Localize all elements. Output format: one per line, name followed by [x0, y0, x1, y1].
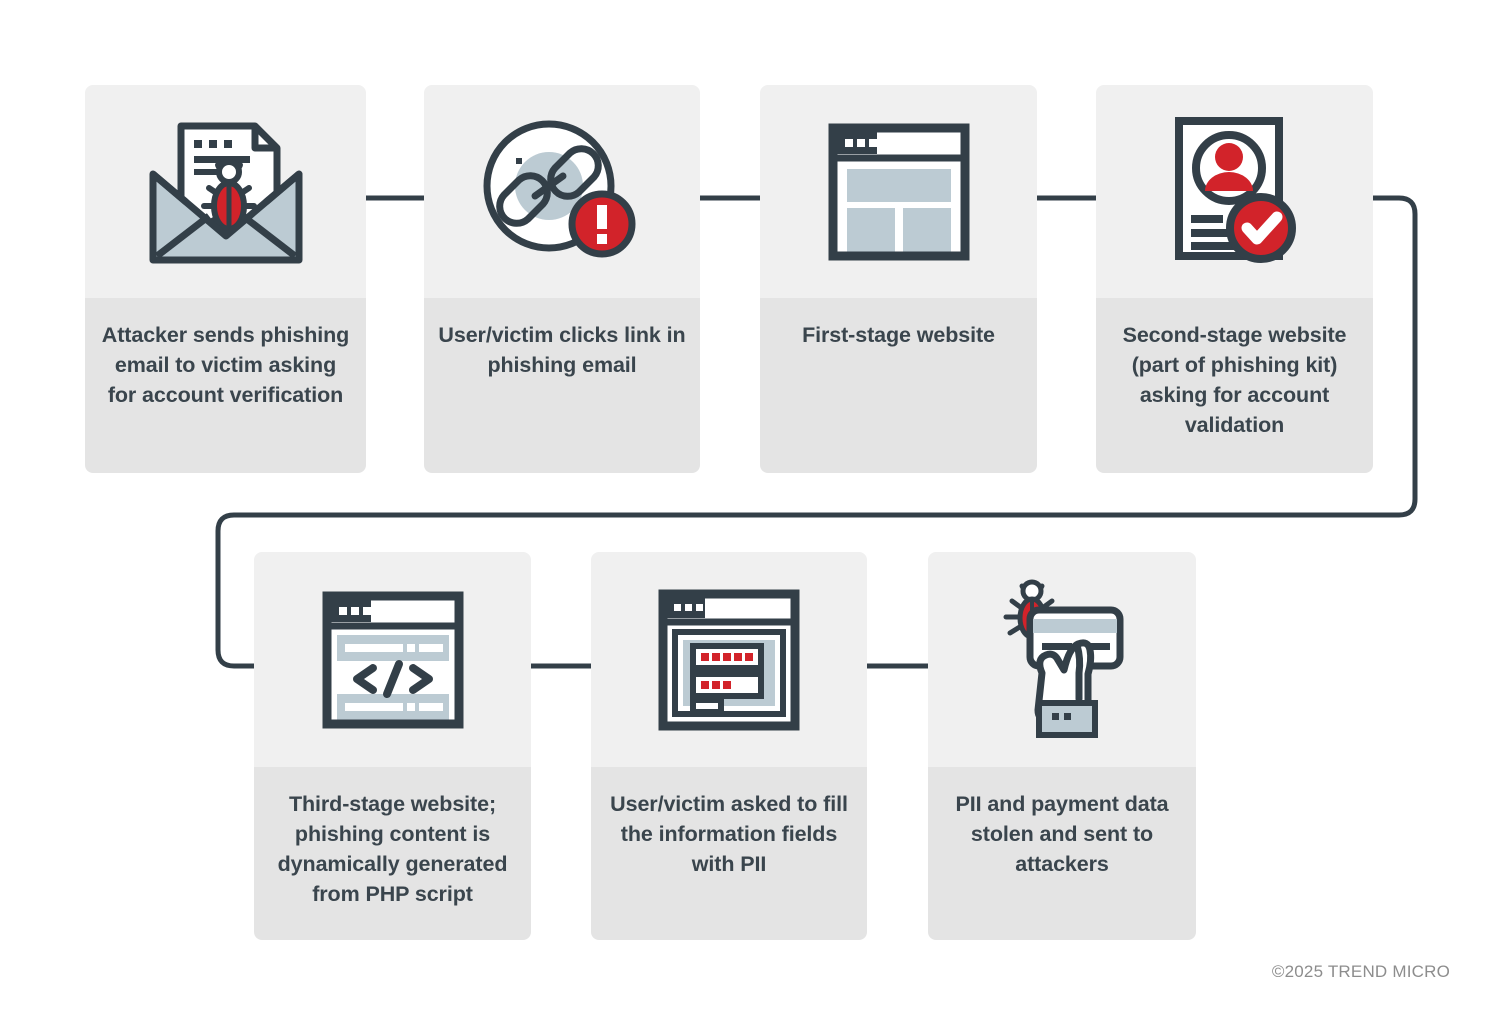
step-4-caption: Second-stage website (part of phishing k… — [1110, 320, 1359, 440]
step-card-4: Second-stage website (part of phishing k… — [1096, 85, 1373, 473]
hand-credit-card-bug-icon — [990, 577, 1135, 742]
step-4-label-area: Second-stage website (part of phishing k… — [1096, 298, 1373, 473]
step-2-label-area: User/victim clicks link in phishing emai… — [424, 298, 700, 473]
step-6-icon-area — [591, 552, 867, 767]
code-browser-icon — [313, 582, 473, 737]
step-7-label-area: PII and payment data stolen and sent to … — [928, 767, 1196, 940]
step-1-caption: Attacker sends phishing email to victim … — [99, 320, 352, 410]
step-card-2: User/victim clicks link in phishing emai… — [424, 85, 700, 473]
copyright-notice: ©2025 TREND MICRO — [1272, 962, 1450, 982]
step-3-icon-area — [760, 85, 1037, 298]
step-card-7: PII and payment data stolen and sent to … — [928, 552, 1196, 940]
malicious-link-alert-icon — [477, 112, 647, 272]
step-5-caption: Third-stage website; phishing content is… — [268, 789, 517, 909]
step-card-5: Third-stage website; phishing content is… — [254, 552, 531, 940]
step-card-6: User/victim asked to fill the informatio… — [591, 552, 867, 940]
browser-window-icon — [819, 114, 979, 269]
step-7-icon-area — [928, 552, 1196, 767]
step-card-1: Attacker sends phishing email to victim … — [85, 85, 366, 473]
step-card-3: First-stage website — [760, 85, 1037, 473]
step-3-caption: First-stage website — [774, 320, 1023, 350]
verified-id-card-icon — [1155, 109, 1315, 274]
infographic-canvas: Attacker sends phishing email to victim … — [0, 0, 1498, 1023]
step-4-icon-area — [1096, 85, 1373, 298]
step-7-caption: PII and payment data stolen and sent to … — [942, 789, 1182, 879]
step-5-icon-area — [254, 552, 531, 767]
step-3-label-area: First-stage website — [760, 298, 1037, 473]
step-2-caption: User/victim clicks link in phishing emai… — [438, 320, 686, 380]
step-2-icon-area — [424, 85, 700, 298]
bug-email-icon — [141, 112, 311, 272]
step-6-caption: User/victim asked to fill the informatio… — [605, 789, 853, 879]
step-5-label-area: Third-stage website; phishing content is… — [254, 767, 531, 940]
form-fields-browser-icon — [649, 582, 809, 737]
step-1-label-area: Attacker sends phishing email to victim … — [85, 298, 366, 473]
step-1-icon-area — [85, 85, 366, 298]
step-6-label-area: User/victim asked to fill the informatio… — [591, 767, 867, 940]
